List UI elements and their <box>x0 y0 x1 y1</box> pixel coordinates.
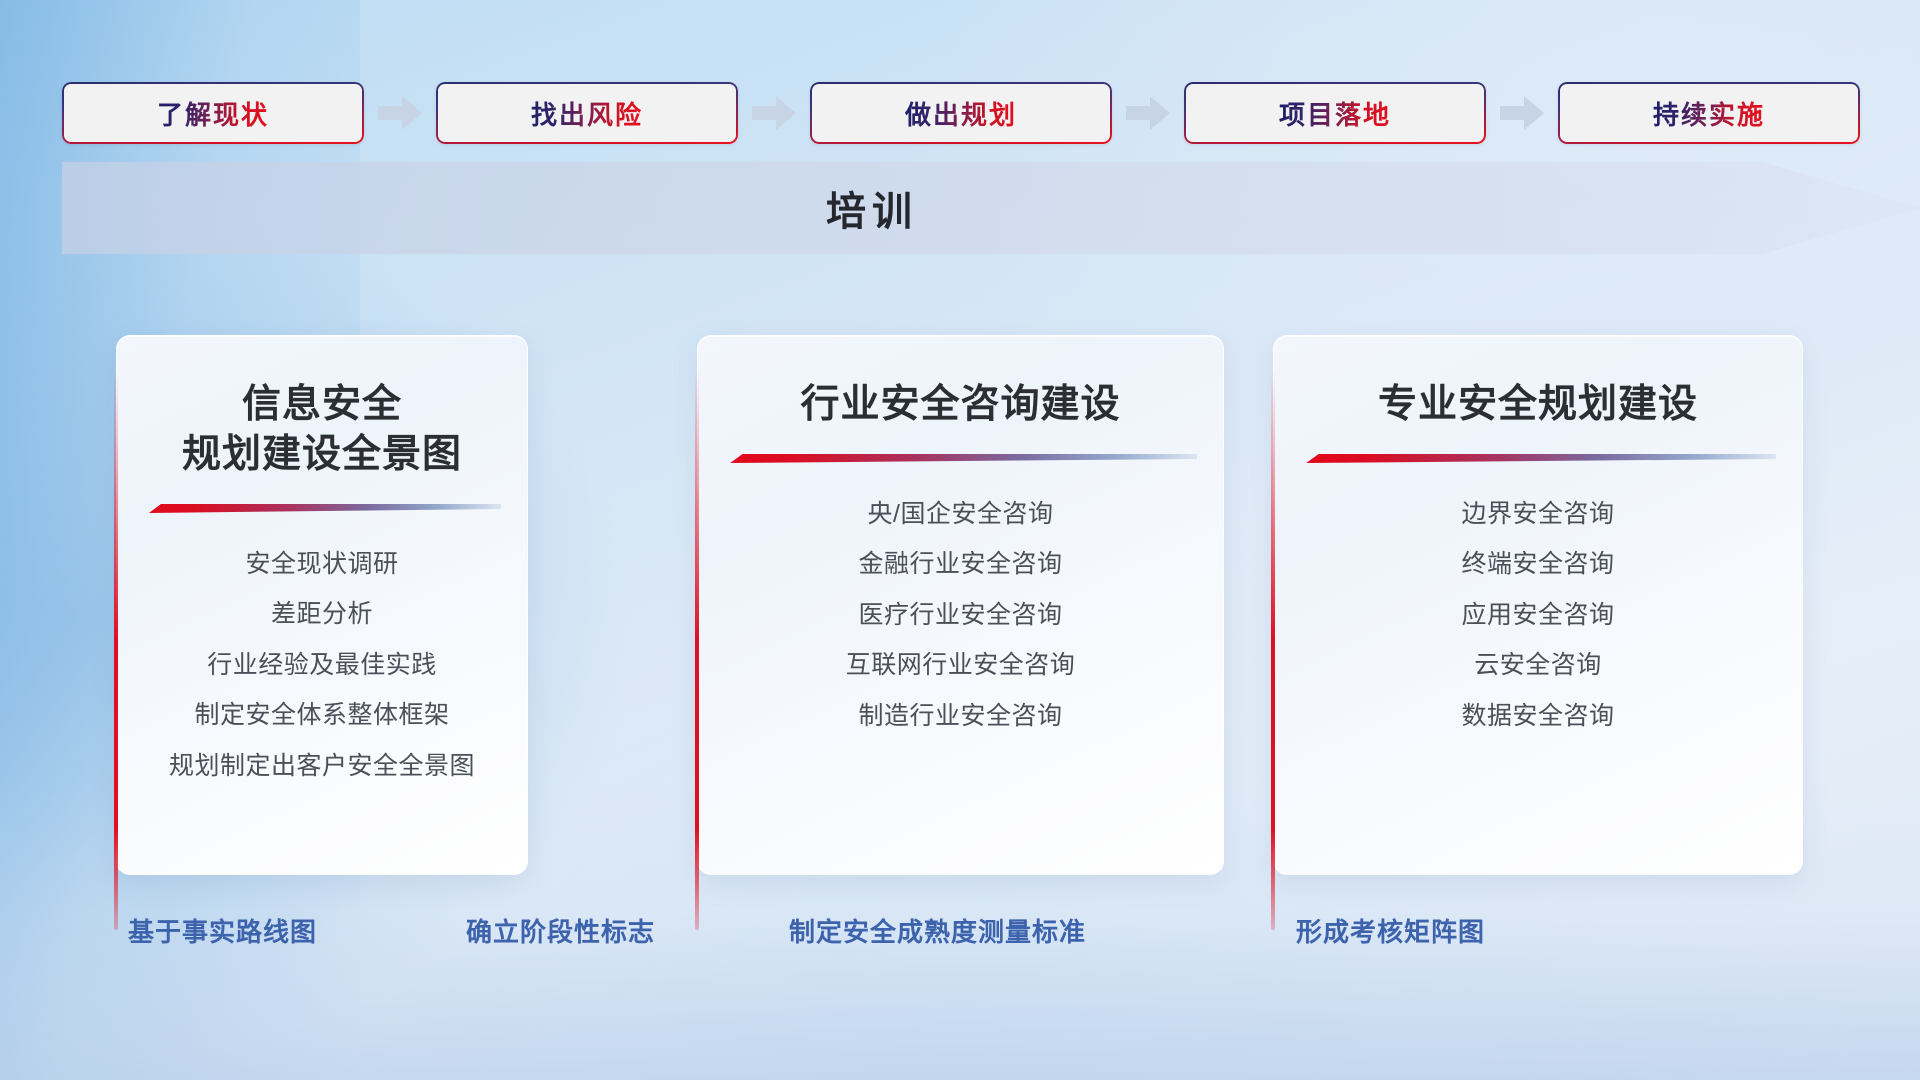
card-item-list: 边界安全咨询 终端安全咨询 应用安全咨询 云安全咨询 数据安全咨询 <box>1300 496 1776 736</box>
process-step-5[interactable]: 持续实施 <box>1558 82 1860 144</box>
card-row: 信息安全 规划建设全景图 <box>0 335 1920 880</box>
card-title: 行业安全咨询建设 <box>800 380 1120 430</box>
list-item: 规划制定出客户安全全景图 <box>169 748 475 786</box>
process-step-2[interactable]: 找出风险 <box>436 82 738 144</box>
slide-canvas: 了解现状 找出风险 做出规划 项目落地 <box>0 0 1920 1080</box>
card-title: 专业安全规划建设 <box>1378 380 1698 430</box>
caption-row: 基于事实路线图 确立阶段性标志 制定安全成熟度测量标准 形成考核矩阵图 <box>0 912 1920 960</box>
caption-maturity-measurement: 制定安全成熟度测量标准 <box>789 912 1086 949</box>
arrow-right-icon <box>1486 82 1558 144</box>
process-step-label: 持续实施 <box>1653 95 1765 132</box>
arrow-right-icon <box>738 82 810 144</box>
training-banner-label: 培训 <box>62 162 1682 254</box>
card-divider <box>143 502 501 516</box>
process-step-1[interactable]: 了解现状 <box>62 82 364 144</box>
list-item: 互联网行业安全咨询 <box>846 647 1076 685</box>
card-divider <box>1300 452 1776 466</box>
list-item: 金融行业安全咨询 <box>858 546 1062 584</box>
list-item: 数据安全咨询 <box>1461 698 1614 736</box>
list-item: 安全现状调研 <box>245 546 398 584</box>
card-professional-security-planning[interactable]: 专业安全规划建设 <box>1273 335 1803 875</box>
process-step-label: 了解现状 <box>157 95 269 132</box>
list-item: 央/国企安全咨询 <box>868 496 1054 534</box>
card-divider <box>724 452 1197 466</box>
arrow-right-icon <box>364 82 436 144</box>
process-step-3[interactable]: 做出规划 <box>810 82 1112 144</box>
process-step-label: 找出风险 <box>531 95 643 132</box>
list-item: 制造行业安全咨询 <box>858 698 1062 736</box>
caption-fact-based-roadmap: 基于事实路线图 <box>128 912 317 949</box>
caption-phase-milestones: 确立阶段性标志 <box>466 912 655 949</box>
card-item-list: 安全现状调研 差距分析 行业经验及最佳实践 制定安全体系整体框架 规划制定出客户… <box>143 546 501 786</box>
caption-assessment-matrix: 形成考核矩阵图 <box>1296 912 1485 949</box>
list-item: 终端安全咨询 <box>1461 546 1614 584</box>
arrow-right-icon <box>1112 82 1184 144</box>
list-item: 制定安全体系整体框架 <box>194 697 449 735</box>
process-step-label: 项目落地 <box>1279 95 1391 132</box>
process-step-row: 了解现状 找出风险 做出规划 项目落地 <box>62 78 1862 148</box>
process-step-label: 做出规划 <box>905 95 1017 132</box>
list-item: 边界安全咨询 <box>1461 496 1614 534</box>
list-item: 云安全咨询 <box>1474 647 1602 685</box>
card-information-security-blueprint[interactable]: 信息安全 规划建设全景图 <box>116 335 528 875</box>
card-item-list: 央/国企安全咨询 金融行业安全咨询 医疗行业安全咨询 互联网行业安全咨询 制造行… <box>724 496 1197 736</box>
process-step-4[interactable]: 项目落地 <box>1184 82 1486 144</box>
card-industry-security-consulting[interactable]: 行业安全咨询建设 <box>697 335 1224 875</box>
card-title: 信息安全 规划建设全景图 <box>182 380 462 480</box>
list-item: 医疗行业安全咨询 <box>858 597 1062 635</box>
list-item: 差距分析 <box>271 596 373 634</box>
list-item: 行业经验及最佳实践 <box>207 647 437 685</box>
training-banner: 培训 <box>62 162 1920 254</box>
list-item: 应用安全咨询 <box>1461 597 1614 635</box>
